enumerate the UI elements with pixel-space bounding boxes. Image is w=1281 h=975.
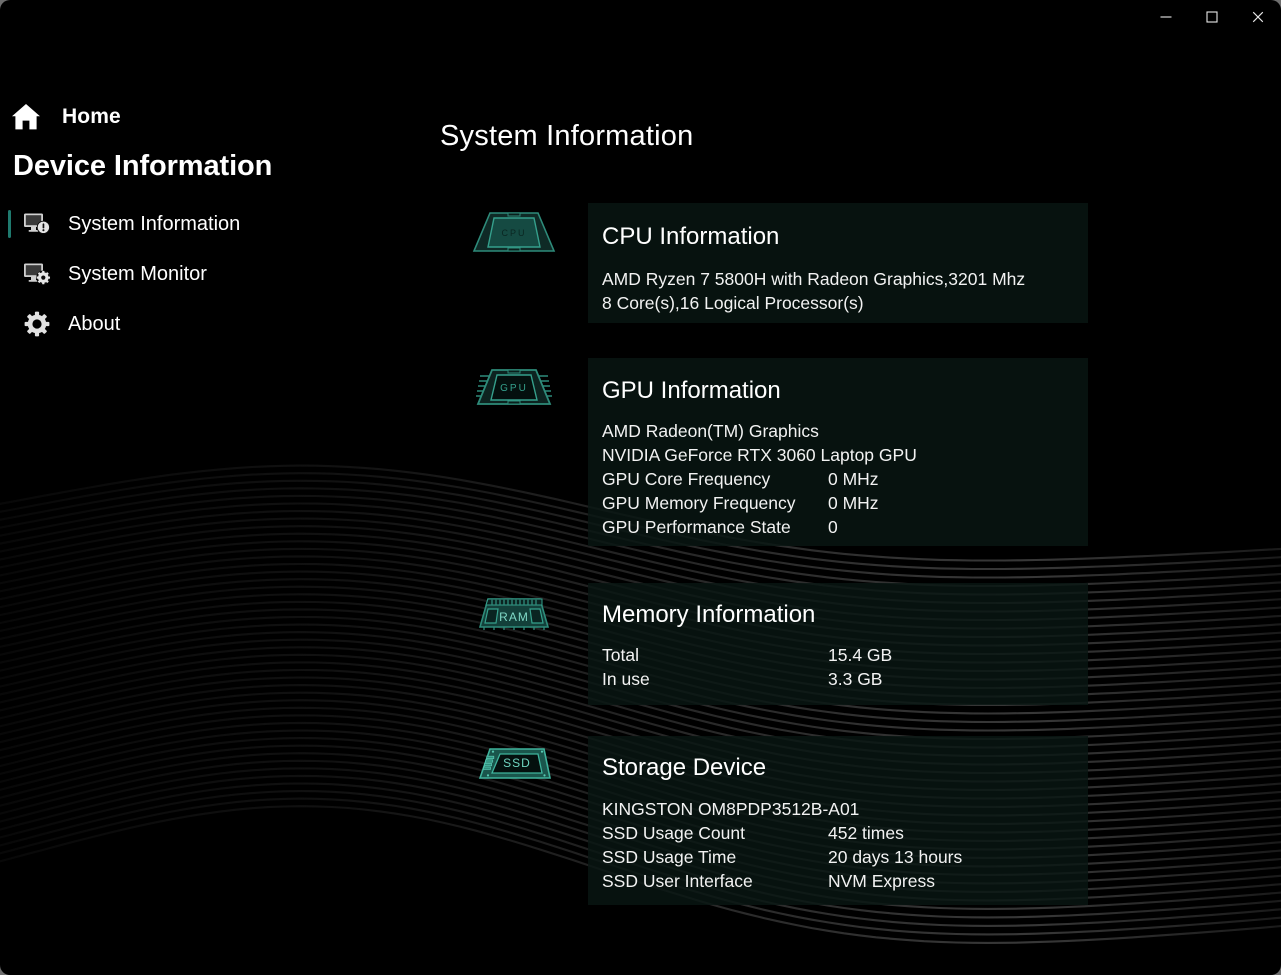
line-label: GPU Performance State bbox=[602, 515, 828, 539]
ram-stick-icon: RAM bbox=[468, 587, 560, 635]
svg-text:CPU: CPU bbox=[501, 228, 526, 238]
sidebar-item-label: System Monitor bbox=[68, 263, 207, 286]
line-label: GPU Core Frequency bbox=[602, 467, 828, 491]
card-line: AMD Ryzen 7 5800H with Radeon Graphics,3… bbox=[602, 267, 1072, 291]
card-line: AMD Radeon(TM) Graphics bbox=[602, 419, 1072, 443]
line-label: SSD User Interface bbox=[602, 869, 828, 893]
home-button[interactable]: Home bbox=[10, 96, 121, 138]
selection-indicator bbox=[8, 210, 11, 238]
memory-card: Memory Information Total 15.4 GB In use … bbox=[588, 583, 1088, 705]
line-label: SSD Usage Time bbox=[602, 845, 828, 869]
line-value: 0 MHz bbox=[828, 467, 879, 491]
line-label: KINGSTON OM8PDP3512B-A01 bbox=[602, 797, 859, 821]
page-title: System Information bbox=[440, 120, 693, 153]
line-label: 8 Core(s),16 Logical Processor(s) bbox=[602, 291, 864, 315]
card-line: GPU Core Frequency 0 MHz bbox=[602, 467, 1072, 491]
svg-text:GPU: GPU bbox=[500, 383, 528, 394]
app-window: Home Device Information System Informati… bbox=[0, 0, 1281, 975]
sidebar: Home Device Information System Informati… bbox=[0, 0, 420, 975]
card-line: SSD User Interface NVM Express bbox=[602, 869, 1072, 893]
svg-text:RAM: RAM bbox=[499, 610, 529, 624]
card-line: 8 Core(s),16 Logical Processor(s) bbox=[602, 291, 1072, 315]
line-value: 20 days 13 hours bbox=[828, 845, 962, 869]
maximize-button[interactable] bbox=[1189, 0, 1235, 34]
sidebar-item-about[interactable]: About bbox=[0, 302, 420, 346]
close-button[interactable] bbox=[1235, 0, 1281, 34]
memory-card-title: Memory Information bbox=[602, 601, 815, 629]
line-label: NVIDIA GeForce RTX 3060 Laptop GPU bbox=[602, 443, 917, 467]
line-label: GPU Memory Frequency bbox=[602, 491, 828, 515]
card-line: SSD Usage Time 20 days 13 hours bbox=[602, 845, 1072, 869]
line-label: In use bbox=[602, 667, 828, 691]
gpu-card-title: GPU Information bbox=[602, 377, 781, 405]
line-label: AMD Ryzen 7 5800H with Radeon Graphics,3… bbox=[602, 267, 1025, 291]
line-label: AMD Radeon(TM) Graphics bbox=[602, 419, 819, 443]
card-line: KINGSTON OM8PDP3512B-A01 bbox=[602, 797, 1072, 821]
ssd-drive-icon: SSD bbox=[468, 740, 560, 788]
home-icon bbox=[10, 101, 42, 133]
card-line: In use 3.3 GB bbox=[602, 667, 1072, 691]
selection-indicator bbox=[8, 260, 11, 288]
gpu-card-lines: AMD Radeon(TM) Graphics NVIDIA GeForce R… bbox=[602, 419, 1072, 539]
minimize-button[interactable] bbox=[1143, 0, 1189, 34]
cpu-chip-icon: CPU bbox=[468, 207, 560, 255]
storage-card-lines: KINGSTON OM8PDP3512B-A01 SSD Usage Count… bbox=[602, 797, 1072, 893]
monitor-gear-icon bbox=[22, 259, 52, 289]
cpu-card: CPU Information AMD Ryzen 7 5800H with R… bbox=[588, 203, 1088, 323]
line-label: Total bbox=[602, 643, 828, 667]
maximize-icon bbox=[1205, 10, 1219, 24]
minimize-icon bbox=[1159, 10, 1173, 24]
sidebar-item-label: System Information bbox=[68, 213, 240, 236]
svg-text:SSD: SSD bbox=[503, 756, 531, 770]
title-bar bbox=[0, 0, 1281, 46]
line-value: NVM Express bbox=[828, 869, 935, 893]
storage-card: Storage Device KINGSTON OM8PDP3512B-A01 … bbox=[588, 736, 1088, 905]
line-value: 452 times bbox=[828, 821, 904, 845]
card-line: GPU Memory Frequency 0 MHz bbox=[602, 491, 1072, 515]
sidebar-item-system-information[interactable]: System Information bbox=[0, 202, 420, 246]
sidebar-heading: Device Information bbox=[13, 150, 272, 183]
memory-card-lines: Total 15.4 GB In use 3.3 GB bbox=[602, 643, 1072, 691]
monitor-info-icon bbox=[22, 209, 52, 239]
sidebar-item-label: About bbox=[68, 313, 120, 336]
gpu-chip-icon: GPU bbox=[468, 362, 560, 410]
close-icon bbox=[1251, 10, 1265, 24]
gear-icon bbox=[22, 309, 52, 339]
card-line: GPU Performance State 0 bbox=[602, 515, 1072, 539]
sidebar-item-system-monitor[interactable]: System Monitor bbox=[0, 252, 420, 296]
line-value: 15.4 GB bbox=[828, 643, 892, 667]
line-value: 0 bbox=[828, 515, 838, 539]
home-label: Home bbox=[62, 105, 121, 129]
card-line: Total 15.4 GB bbox=[602, 643, 1072, 667]
line-value: 0 MHz bbox=[828, 491, 879, 515]
selection-indicator bbox=[8, 310, 11, 338]
line-label: SSD Usage Count bbox=[602, 821, 828, 845]
card-line: SSD Usage Count 452 times bbox=[602, 821, 1072, 845]
line-value: 3.3 GB bbox=[828, 667, 882, 691]
cpu-card-title: CPU Information bbox=[602, 223, 779, 251]
card-line: NVIDIA GeForce RTX 3060 Laptop GPU bbox=[602, 443, 1072, 467]
gpu-card: GPU Information AMD Radeon(TM) Graphics … bbox=[588, 358, 1088, 546]
storage-card-title: Storage Device bbox=[602, 754, 766, 782]
cpu-card-lines: AMD Ryzen 7 5800H with Radeon Graphics,3… bbox=[602, 267, 1072, 315]
